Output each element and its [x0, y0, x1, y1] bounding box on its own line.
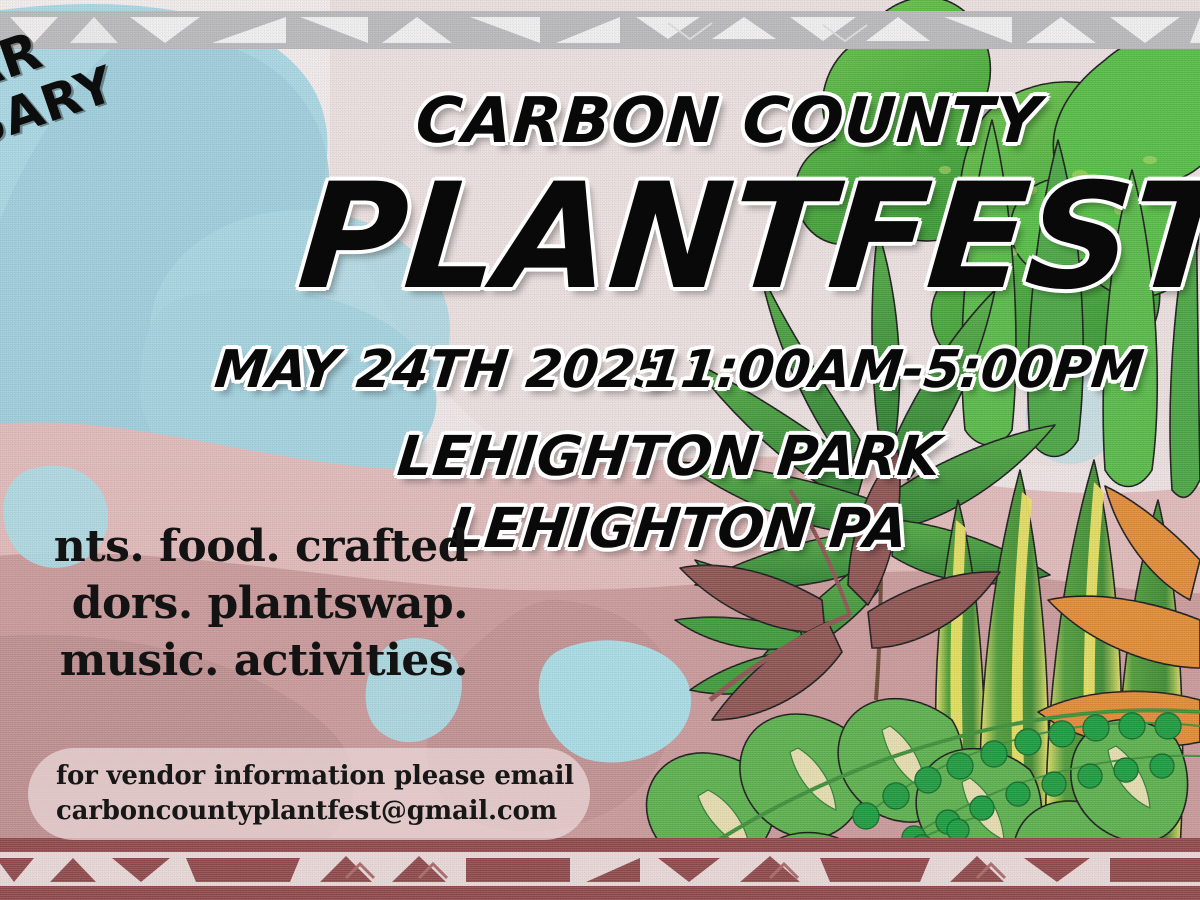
title-plantfest: PLANTFEST: [293, 152, 1200, 322]
event-poster: YEAR ERSARY CARBON COUNTY PLANTFEST MAY …: [0, 0, 1200, 900]
event-time: 11:00AM-5:00PM: [642, 340, 1147, 400]
venue-name: LEHIGHTON PARK: [395, 424, 944, 488]
features-list: nts. food. crafted dors. plantswap. musi…: [0, 518, 468, 690]
features-line-1: nts. food. crafted: [0, 518, 468, 575]
vendor-contact-email[interactable]: carboncountyplantfest@gmail.com: [56, 794, 590, 829]
vendor-contact-pill: for vendor information please email carb…: [28, 748, 590, 840]
features-line-3: music. activities.: [0, 632, 468, 689]
decorative-border-bottom: [0, 838, 1200, 900]
event-date: MAY 24TH 2025: [212, 340, 674, 400]
features-line-2: dors. plantswap.: [0, 575, 468, 632]
vendor-contact-prompt: for vendor information please email: [56, 759, 590, 794]
eyebrow-carbon-county: CARBON COUNTY: [413, 84, 1043, 157]
venue-city-state: LEHIGHTON PA: [447, 496, 911, 560]
headline-block: CARBON COUNTY PLANTFEST MAY 24TH 2025 11…: [0, 0, 1200, 600]
